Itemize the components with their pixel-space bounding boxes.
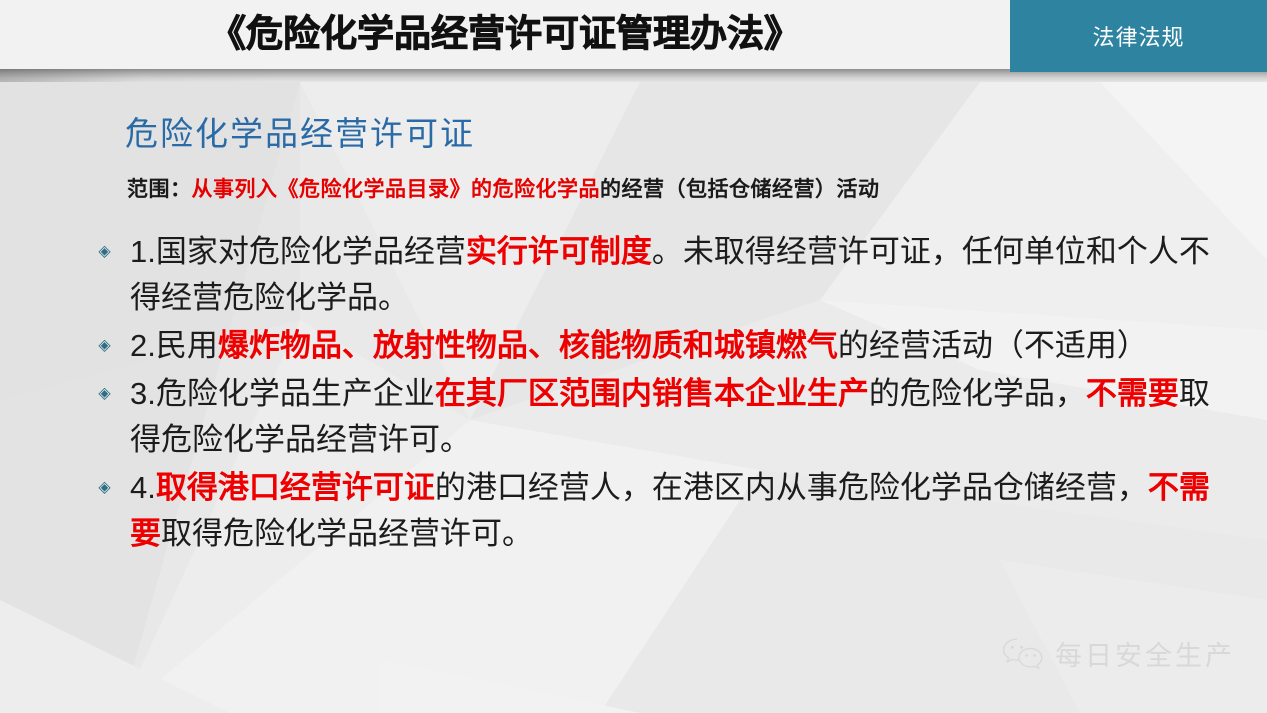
watermark: 每日安全生产	[1001, 634, 1235, 673]
wechat-icon	[1001, 637, 1045, 671]
slide-body: 危险化学品经营许可证 范围：从事列入《危险化学品目录》的危险化学品的经营（包括仓…	[0, 82, 1267, 713]
diamond-bullet-icon: ◈	[96, 337, 113, 354]
list-item: ◈ 3.危险化学品生产企业在其厂区范围内销售本企业生产的危险化学品，不需要取得危…	[96, 371, 1236, 463]
scope-tail: 的经营（包括仓储经营）活动	[600, 176, 880, 201]
segment-plain-3: 取得危险化学品经营许可。	[161, 516, 533, 551]
list-item-text: 4.取得港口经营许可证的港口经营人，在港区内从事危险化学品仓储经营，不需要取得危…	[130, 470, 1210, 551]
segment-plain-2: 的危险化学品，	[869, 376, 1086, 411]
segment-highlight-1: 实行许可制度	[466, 234, 652, 269]
segment-plain-1: 1.国家对危险化学品经营	[130, 234, 466, 269]
section-heading: 危险化学品经营许可证	[125, 114, 475, 154]
list-item-text: 3.危险化学品生产企业在其厂区范围内销售本企业生产的危险化学品，不需要取得危险化…	[130, 376, 1210, 457]
segment-highlight-1: 取得港口经营许可证	[156, 470, 435, 505]
scope-line: 范围：从事列入《危险化学品目录》的危险化学品的经营（包括仓储经营）活动	[127, 175, 880, 203]
page-title: 《危险化学品经营许可证管理办法》	[0, 6, 1010, 62]
segment-highlight-1: 在其厂区范围内销售本企业生产	[435, 376, 869, 411]
diamond-bullet-icon: ◈	[96, 385, 113, 402]
list-item: ◈ 4.取得港口经营许可证的港口经营人，在港区内从事危险化学品仓储经营，不需要取…	[96, 465, 1236, 557]
watermark-label: 每日安全生产	[1055, 634, 1235, 673]
list-item: ◈ 2.民用爆炸物品、放射性物品、核能物质和城镇燃气的经营活动（不适用）	[96, 323, 1236, 369]
bullet-list: ◈ 1.国家对危险化学品经营实行许可制度。未取得经营许可证，任何单位和个人不得经…	[96, 229, 1236, 559]
slide: 《危险化学品经营许可证管理办法》 法律法规 危险化学品经营许可证 范围：从事列入…	[0, 0, 1267, 713]
segment-plain-1: 4.	[130, 470, 156, 505]
list-item: ◈ 1.国家对危险化学品经营实行许可制度。未取得经营许可证，任何单位和个人不得经…	[96, 229, 1236, 321]
segment-plain-2: 的经营活动（不适用）	[838, 328, 1148, 363]
diamond-bullet-icon: ◈	[96, 479, 113, 496]
category-tag-label: 法律法规	[1092, 20, 1184, 52]
segment-plain-1: 2.民用	[130, 328, 218, 363]
segment-highlight-2: 不需要	[1086, 376, 1179, 411]
segment-plain-1: 3.危险化学品生产企业	[130, 376, 435, 411]
scope-label: 范围：	[127, 176, 192, 201]
segment-highlight-1: 爆炸物品、放射性物品、核能物质和城镇燃气	[218, 328, 838, 363]
scope-highlight: 从事列入《危险化学品目录》的危险化学品	[192, 176, 601, 201]
list-item-text: 1.国家对危险化学品经营实行许可制度。未取得经营许可证，任何单位和个人不得经营危…	[130, 234, 1210, 315]
diamond-bullet-icon: ◈	[96, 243, 113, 260]
category-tag-badge: 法律法规	[1010, 0, 1267, 72]
segment-plain-2: 的港口经营人，在港区内从事危险化学品仓储经营，	[435, 470, 1148, 505]
list-item-text: 2.民用爆炸物品、放射性物品、核能物质和城镇燃气的经营活动（不适用）	[130, 328, 1148, 363]
